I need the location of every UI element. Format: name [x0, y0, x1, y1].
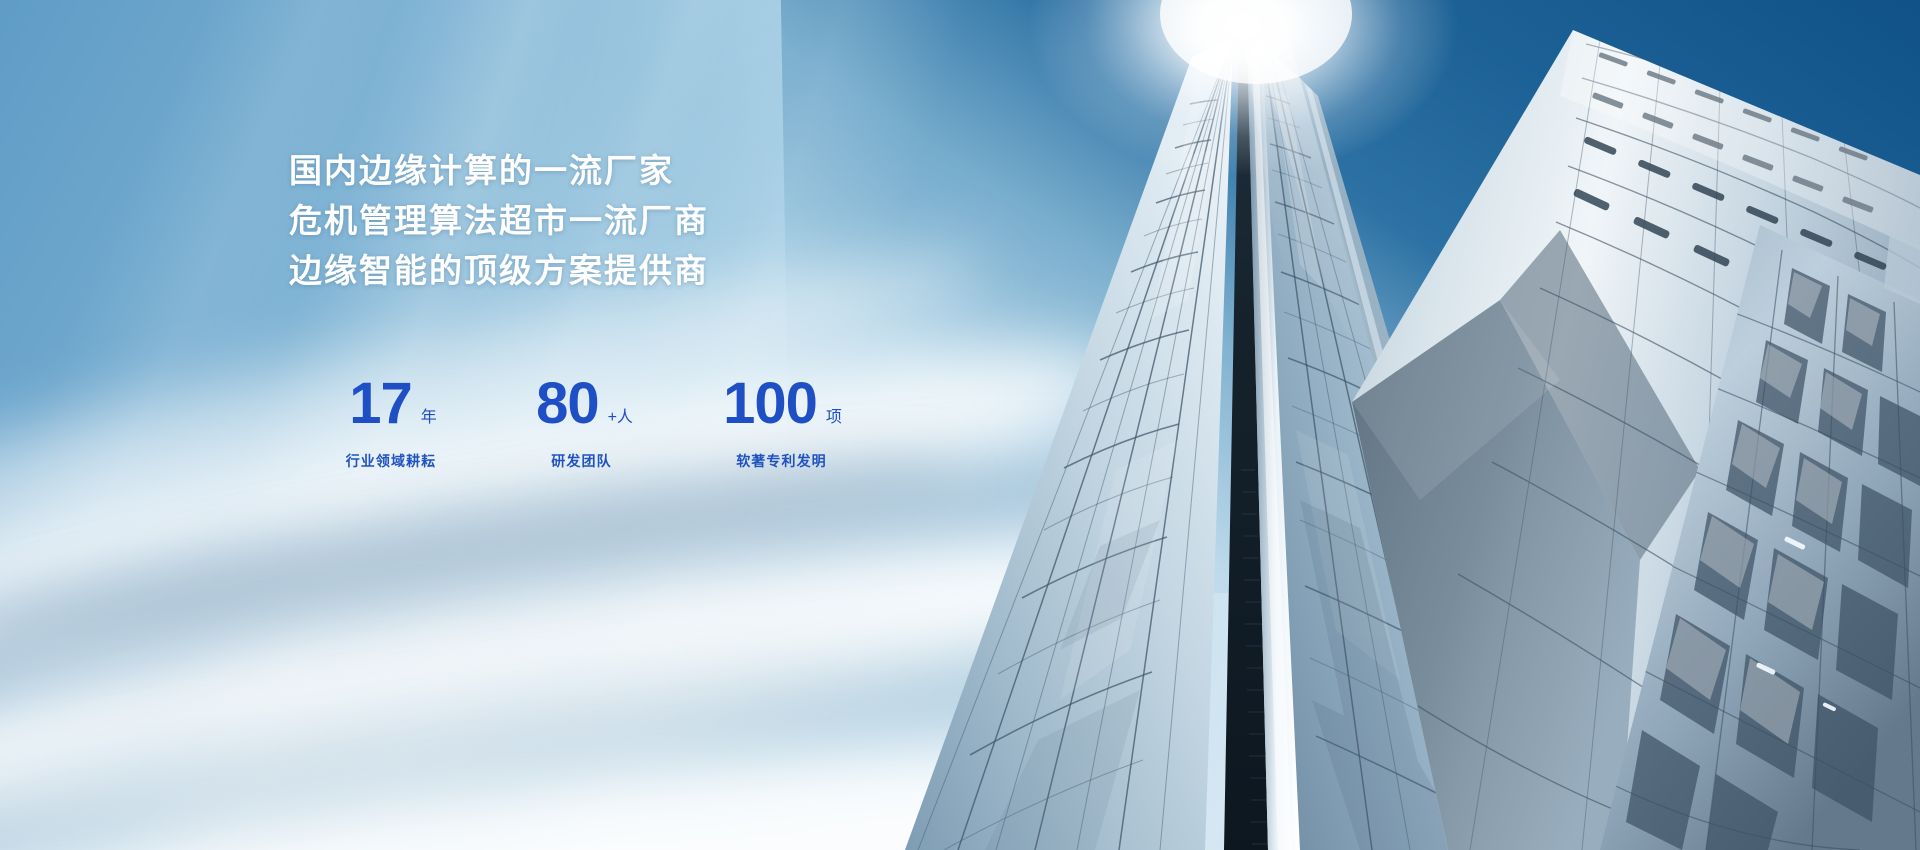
stats-row: 17 年 行业领域耕耘 80 +人 研发团队 100 项 软著专利发明 [289, 370, 929, 471]
stat-item-team: 80 +人 研发团队 [489, 370, 674, 471]
stat-label: 研发团队 [489, 451, 674, 471]
stat-value-group: 100 项 [674, 370, 879, 432]
stat-number: 80 [536, 376, 599, 432]
skyscraper-photo [0, 0, 1920, 850]
stat-value-group: 80 +人 [489, 370, 674, 432]
stat-number: 17 [349, 376, 412, 432]
stat-unit: +人 [599, 410, 633, 432]
hero-headline-block: 国内边缘计算的一流厂家 危机管理算法超市一流厂商 边缘智能的顶级方案提供商 [289, 146, 909, 296]
stat-label: 行业领域耕耘 [289, 451, 489, 471]
stat-number: 100 [723, 376, 817, 432]
stat-label: 软著专利发明 [674, 451, 879, 471]
stat-unit: 项 [817, 410, 842, 432]
headline-line-1: 国内边缘计算的一流厂家 [289, 146, 909, 196]
stat-item-patents: 100 项 软著专利发明 [674, 370, 879, 471]
hero-banner: 国内边缘计算的一流厂家 危机管理算法超市一流厂商 边缘智能的顶级方案提供商 17… [0, 0, 1920, 850]
stat-unit: 年 [412, 410, 437, 432]
stat-item-years: 17 年 行业领域耕耘 [289, 370, 489, 471]
headline-line-2: 危机管理算法超市一流厂商 [289, 196, 909, 246]
headline-line-3: 边缘智能的顶级方案提供商 [289, 246, 909, 296]
stat-value-group: 17 年 [289, 370, 489, 432]
